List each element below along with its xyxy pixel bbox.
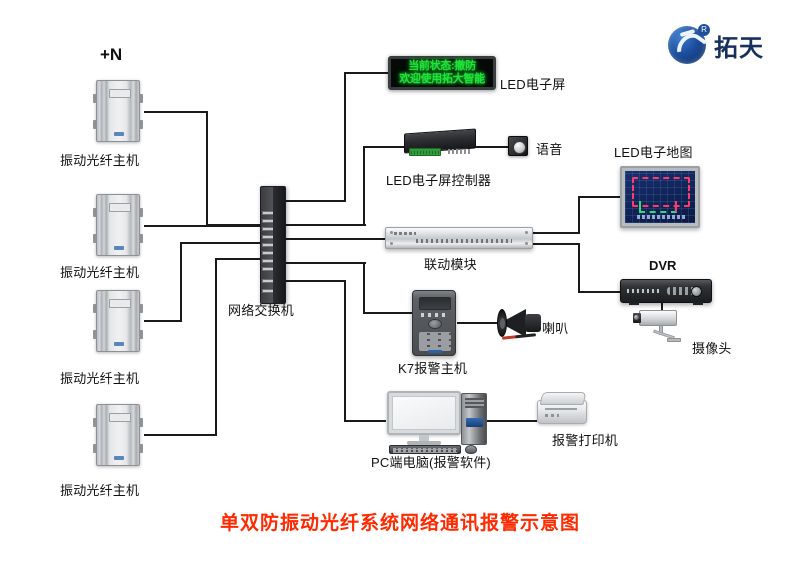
k7-display <box>419 297 451 310</box>
wire-host3-to-switch <box>180 242 260 244</box>
wire-host1-h <box>144 111 208 113</box>
host-bracket-icon <box>139 330 143 339</box>
k7-alarm-host-icon[interactable] <box>412 290 456 356</box>
wire-host3-v <box>180 242 182 322</box>
camera-housing <box>639 310 677 326</box>
host-bracket-icon <box>93 418 97 427</box>
module-print-label <box>394 232 416 235</box>
dvr-foot <box>693 302 703 305</box>
led-electronic-map-icon[interactable] <box>620 166 700 228</box>
map-caption-strip <box>637 215 687 219</box>
host-bracket-icon <box>93 330 97 339</box>
label-printer: 报警打印机 <box>552 430 618 449</box>
vibration-fiber-host-icon-4[interactable] <box>96 404 140 466</box>
cctv-camera-icon[interactable] <box>633 308 689 346</box>
horn-mouth <box>497 309 507 337</box>
dvr-jog-dial-icon <box>691 286 702 297</box>
module-screw-icon <box>525 231 528 234</box>
wire-linkage-dvr-h <box>532 243 580 245</box>
vibration-fiber-host-icon-3[interactable] <box>96 290 140 352</box>
dvr-recorder-icon[interactable] <box>620 279 712 303</box>
host-bracket-icon <box>139 234 143 243</box>
controller-ports-icon <box>448 149 470 154</box>
label-vibration-fiber-host-2: 振动光纤主机 <box>60 262 139 281</box>
wire-linkage-ledmap-v <box>578 196 580 234</box>
wire-switch-to-linkage <box>286 238 385 240</box>
wire-host4-v <box>215 258 217 436</box>
wire-linkage-dvr-v <box>578 243 580 292</box>
wire-switch-ledscreen-v <box>344 73 346 202</box>
wire-linkage-ledmap-h <box>532 232 580 234</box>
led-screen-controller-icon[interactable] <box>404 131 476 157</box>
host-bracket-icon <box>139 94 143 103</box>
label-led-screen: LED电子屏 <box>500 74 566 93</box>
label-dvr: DVR <box>649 258 676 273</box>
map-screen <box>625 171 695 223</box>
tower-front-panel <box>466 418 483 427</box>
plus-n-label: +N <box>100 45 122 65</box>
led-screen-line-2: 欢迎使用拓大智能 <box>399 73 485 86</box>
host-bracket-icon <box>139 120 143 129</box>
horn-driver-body <box>525 314 541 332</box>
tuotian-circle-logo-icon: R <box>668 26 706 64</box>
label-pc: PC端电脑(报警软件) <box>371 452 491 471</box>
vibration-fiber-host-icon-1[interactable] <box>96 80 140 142</box>
monitor-screen <box>392 396 456 430</box>
label-linkage-module: 联动模块 <box>424 254 477 273</box>
wire-host1-v <box>206 111 208 225</box>
network-switch-icon[interactable] <box>260 186 286 304</box>
printer-buttons[interactable] <box>545 414 559 417</box>
printer-paper-slot <box>545 408 577 410</box>
k7-keypad[interactable] <box>419 332 451 351</box>
label-led-map: LED电子地图 <box>614 142 693 161</box>
host-bracket-icon <box>139 444 143 453</box>
brand-name: 拓天 <box>714 28 764 63</box>
diagram-title: 单双防振动光纤系统网络通讯报警示意图 <box>0 508 800 535</box>
led-screen-line-1: 当前状态:撤防 <box>408 60 476 73</box>
wire-to-led-map <box>578 196 620 198</box>
host-bracket-icon <box>93 444 97 453</box>
dvr-foot <box>629 302 639 305</box>
k7-brand-badge <box>428 350 442 353</box>
map-inner-zone-icon <box>639 201 677 213</box>
module-screw-icon <box>525 242 528 245</box>
label-k7-host: K7报警主机 <box>398 358 467 377</box>
wire-switch-pc-h <box>286 280 346 282</box>
host-bracket-icon <box>93 234 97 243</box>
label-vibration-fiber-host-1: 振动光纤主机 <box>60 150 139 169</box>
diagram-canvas: R 拓天 +N <box>0 0 800 579</box>
label-horn: 喇叭 <box>542 318 568 337</box>
module-port-strip <box>416 239 512 243</box>
alarm-printer-icon[interactable] <box>537 392 589 426</box>
label-network-switch: 网络交换机 <box>228 300 294 319</box>
host-bracket-icon <box>93 304 97 313</box>
wire-to-led-controller <box>363 146 405 148</box>
wire-host3-h <box>144 320 182 322</box>
led-text-screen-icon[interactable]: 当前状态:撤防 欢迎使用拓大智能 <box>388 56 496 90</box>
k7-status-leds <box>421 313 449 317</box>
label-camera: 摄像头 <box>692 338 732 357</box>
linkage-module-icon[interactable] <box>385 227 533 249</box>
wire-switch-ledctrl-v <box>363 147 365 226</box>
wire-host4-h <box>144 434 217 436</box>
registered-mark-icon: R <box>698 24 710 36</box>
host-bracket-icon <box>139 304 143 313</box>
wire-to-pc <box>344 420 386 422</box>
label-vibration-fiber-host-4: 振动光纤主机 <box>60 480 139 499</box>
tower-drive-bays <box>465 398 484 408</box>
voice-sensor-icon[interactable] <box>508 136 528 156</box>
dvr-indicator-leds <box>627 289 659 293</box>
module-screw-icon <box>390 231 393 234</box>
host-bracket-icon <box>139 208 143 217</box>
k7-navigation-dial-icon[interactable] <box>428 319 442 329</box>
camera-lens-icon <box>633 313 641 323</box>
controller-terminal-block-icon <box>409 148 441 156</box>
brand-logo: R 拓天 <box>668 26 764 64</box>
wire-host4-to-switch <box>215 258 260 260</box>
host-bracket-icon <box>139 418 143 427</box>
monitor-icon[interactable] <box>387 391 461 435</box>
logo-swoosh-icon <box>680 29 696 37</box>
printer-lid <box>540 392 587 405</box>
wire-switch-ledscreen-h <box>286 200 346 202</box>
pc-tower-icon[interactable] <box>461 393 487 445</box>
host-bracket-icon <box>93 120 97 129</box>
vibration-fiber-host-icon-2[interactable] <box>96 194 140 256</box>
desktop-computer-icon[interactable] <box>387 391 517 453</box>
label-led-controller: LED电子屏控制器 <box>386 170 491 189</box>
host-bracket-icon <box>93 94 97 103</box>
host-bracket-icon <box>93 208 97 217</box>
wire-to-k7 <box>363 312 413 314</box>
camera-base <box>667 338 681 342</box>
wire-to-led-screen <box>344 72 389 74</box>
wire-host2-to-switch <box>144 225 260 227</box>
label-voice: 语音 <box>536 139 562 158</box>
wire-to-dvr <box>578 291 620 293</box>
wire-switch-pc-v <box>344 280 346 421</box>
wire-switch-k7-v <box>363 262 365 313</box>
switch-side-panel <box>273 187 285 303</box>
label-vibration-fiber-host-3: 振动光纤主机 <box>60 368 139 387</box>
wire-switch-k7-h <box>286 262 366 264</box>
module-screw-icon <box>390 242 393 245</box>
wire-switch-ledctrl-h <box>286 224 366 226</box>
